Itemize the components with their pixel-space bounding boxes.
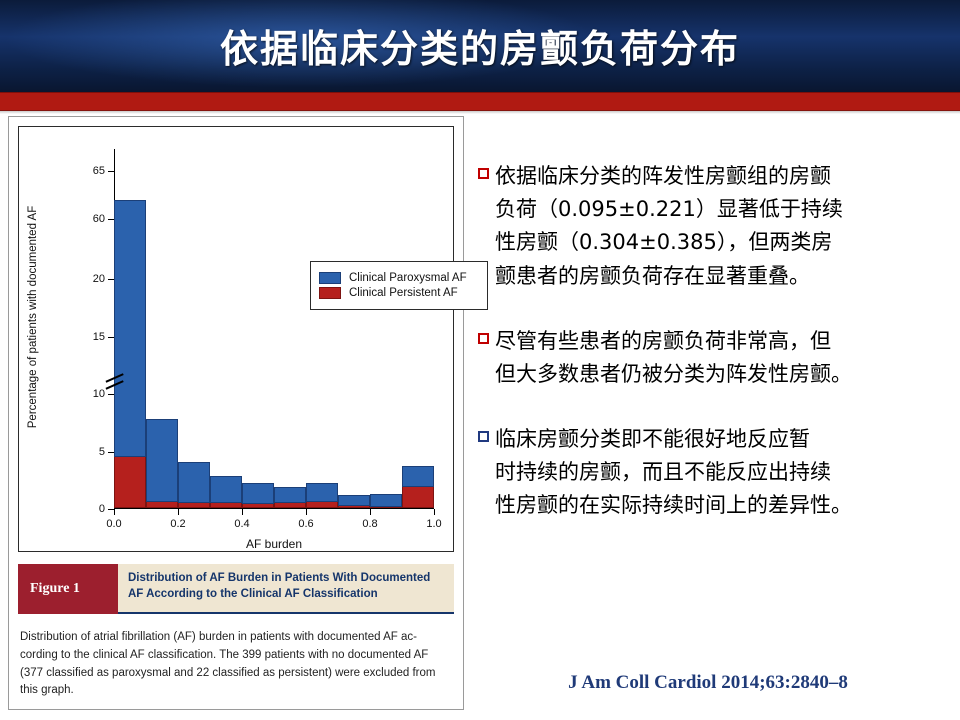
- bar-paroxysmal: [114, 200, 146, 457]
- chart-container: Percentage of patients with documented A…: [18, 126, 454, 552]
- chart-y-axis-label: Percentage of patients with documented A…: [27, 206, 39, 428]
- x-tick-label: 0.8: [362, 518, 377, 530]
- legend-item-persistent: Clinical Persistent AF: [319, 287, 479, 299]
- legend-label-paroxysmal: Clinical Paroxysmal AF: [349, 272, 467, 284]
- figure-number-tag: Figure 1: [18, 564, 118, 614]
- bullet-text-line: 但大多数患者仍被分类为阵发性房颤。: [495, 358, 852, 391]
- y-tick-label: 60: [93, 213, 105, 225]
- header-accent-bar: [0, 92, 960, 111]
- bar-paroxysmal: [274, 487, 306, 503]
- chart-x-axis: [114, 508, 434, 509]
- bar-persistent: [306, 501, 338, 508]
- x-tick: [242, 509, 243, 515]
- bar-persistent: [114, 456, 146, 508]
- bar-paroxysmal: [242, 483, 274, 505]
- bullet-item: 临床房颤分类即不能很好地反应暂时持续的房颤，而且不能反应出持续性房颤的在实际持续…: [478, 423, 948, 523]
- bullet-spacer: [478, 299, 948, 325]
- bullet-square-icon: [478, 431, 489, 442]
- bullet-text-line: 时持续的房颤，而且不能反应出持续: [495, 456, 852, 489]
- bullet-text-line: 临床房颤分类即不能很好地反应暂: [495, 423, 852, 456]
- page-title: 依据临床分类的房颤负荷分布: [0, 18, 960, 73]
- bar-paroxysmal: [210, 476, 242, 504]
- bullet-text-line: 依据临床分类的阵发性房颤组的房颤: [495, 160, 843, 193]
- figure-body-line4: this graph.: [20, 682, 452, 700]
- bullet-text: 依据临床分类的阵发性房颤组的房颤负荷（0.095±0.221）显著低于持续性房颤…: [495, 160, 843, 293]
- y-tick-label: 5: [99, 446, 105, 458]
- legend-swatch-persistent: [319, 287, 341, 299]
- figure-caption-title-line1: Distribution of AF Burden in Patients Wi…: [128, 571, 446, 587]
- chart-legend: Clinical Paroxysmal AF Clinical Persiste…: [310, 261, 488, 310]
- x-tick: [178, 509, 179, 515]
- slide-header: 依据临床分类的房颤负荷分布: [0, 0, 960, 92]
- figure-caption-bar: Figure 1 Distribution of AF Burden in Pa…: [18, 564, 454, 614]
- header-accent-shadow: [0, 110, 960, 114]
- figure-body-line2: cording to the clinical AF classificatio…: [20, 647, 452, 665]
- bar-paroxysmal: [338, 495, 370, 505]
- y-tick-label: 10: [93, 388, 105, 400]
- x-tick: [306, 509, 307, 515]
- bullet-square-icon: [478, 168, 489, 179]
- bar-paroxysmal: [178, 462, 210, 503]
- x-tick-label: 0.0: [106, 518, 121, 530]
- figure-panel: Percentage of patients with documented A…: [8, 116, 464, 710]
- chart-x-axis-label: AF burden: [246, 537, 302, 551]
- y-tick-label: 15: [93, 331, 105, 343]
- y-tick: [108, 171, 114, 172]
- x-tick-label: 1.0: [426, 518, 441, 530]
- bullet-spacer: [478, 397, 948, 423]
- y-tick-label: 0: [99, 503, 105, 515]
- bar-persistent: [402, 486, 434, 508]
- citation-text: J Am Coll Cardiol 2014;63:2840–8: [478, 672, 938, 694]
- y-tick-label: 65: [93, 165, 105, 177]
- bar-paroxysmal: [370, 494, 402, 507]
- bullet-text: 临床房颤分类即不能很好地反应暂时持续的房颤，而且不能反应出持续性房颤的在实际持续…: [495, 423, 852, 523]
- figure-caption-body: Distribution of atrial fibrillation (AF)…: [20, 629, 452, 700]
- legend-swatch-paroxysmal: [319, 272, 341, 284]
- bar-paroxysmal: [306, 483, 338, 503]
- x-tick-label: 0.6: [298, 518, 313, 530]
- bullet-square-icon: [478, 333, 489, 344]
- bullet-text-line: 性房颤（0.304±0.385），但两类房: [495, 226, 843, 259]
- bar-paroxysmal: [146, 419, 178, 502]
- bullet-text-line: 性房颤的在实际持续时间上的差异性。: [495, 489, 852, 522]
- bullet-text-line: 尽管有些患者的房颤负荷非常高，但: [495, 325, 852, 358]
- x-tick-label: 0.4: [234, 518, 249, 530]
- x-tick: [114, 509, 115, 515]
- legend-label-persistent: Clinical Persistent AF: [349, 287, 458, 299]
- bullet-item: 尽管有些患者的房颤负荷非常高，但但大多数患者仍被分类为阵发性房颤。: [478, 325, 948, 391]
- bar-persistent: [146, 501, 178, 508]
- bullet-list: 依据临床分类的阵发性房颤组的房颤负荷（0.095±0.221）显著低于持续性房颤…: [478, 160, 948, 529]
- figure-caption-title-line2: AF According to the Clinical AF Classifi…: [128, 587, 446, 603]
- bullet-text: 尽管有些患者的房颤负荷非常高，但但大多数患者仍被分类为阵发性房颤。: [495, 325, 852, 391]
- figure-body-line3: (377 classified as paroxysmal and 22 cla…: [20, 665, 452, 683]
- slide: 依据临床分类的房颤负荷分布 Percentage of patients wit…: [0, 0, 960, 720]
- x-tick-label: 0.2: [170, 518, 185, 530]
- y-axis-break-icon: [105, 377, 125, 391]
- bullet-text-line: 负荷（0.095±0.221）显著低于持续: [495, 193, 843, 226]
- chart-plot-area: 051015206065 0.00.20.40.60.81.0 Clinical…: [114, 149, 434, 509]
- legend-item-paroxysmal: Clinical Paroxysmal AF: [319, 272, 479, 284]
- figure-body-line1: Distribution of atrial fibrillation (AF)…: [20, 629, 452, 647]
- figure-caption-title: Distribution of AF Burden in Patients Wi…: [118, 564, 454, 614]
- bar-paroxysmal: [402, 466, 434, 487]
- bullet-text-line: 颤患者的房颤负荷存在显著重叠。: [495, 260, 843, 293]
- x-tick: [370, 509, 371, 515]
- y-tick-label: 20: [93, 273, 105, 285]
- bullet-item: 依据临床分类的阵发性房颤组的房颤负荷（0.095±0.221）显著低于持续性房颤…: [478, 160, 948, 293]
- x-tick: [434, 509, 435, 515]
